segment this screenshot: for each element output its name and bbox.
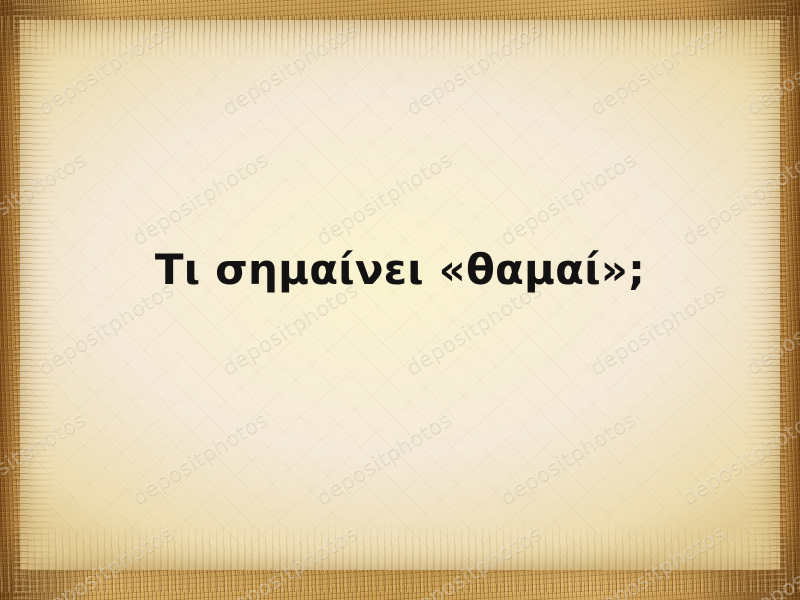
parchment-crease-texture	[20, 20, 780, 570]
presentation-slide: depositphotosdepositphotosdepositphotosd…	[0, 0, 800, 600]
parchment-sheet	[20, 20, 780, 570]
slide-headline-container: Τι σημαίνει «θαμαί»;	[0, 246, 800, 293]
slide-headline: Τι σημαίνει «θαμαί»;	[155, 246, 645, 293]
